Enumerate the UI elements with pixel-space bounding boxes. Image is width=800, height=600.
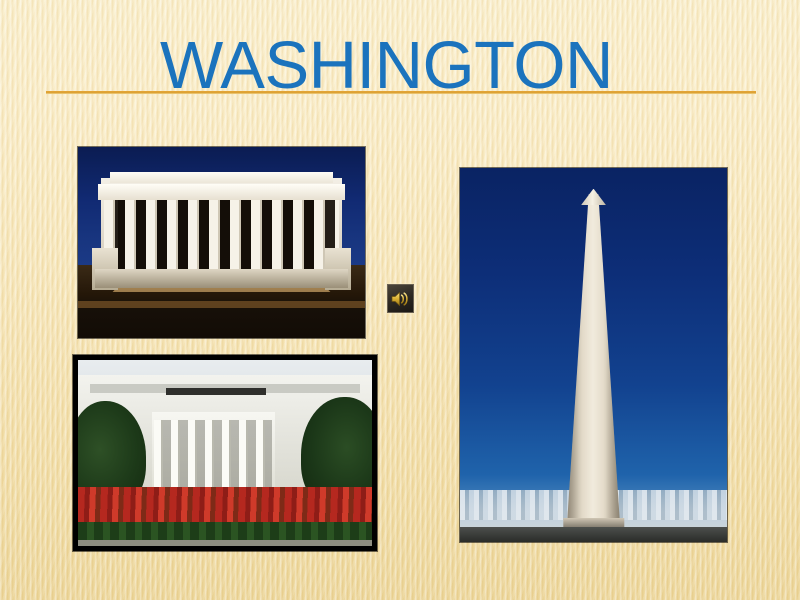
memorial-attic xyxy=(110,172,334,183)
slide-canvas: WASHINGTON xyxy=(0,0,800,600)
foreground-lawn xyxy=(460,527,727,542)
portico-columns xyxy=(154,420,272,494)
speaker-icon[interactable] xyxy=(387,284,414,313)
front-path xyxy=(78,540,372,546)
washington-monument-photo[interactable] xyxy=(460,168,727,542)
lincoln-memorial-photo[interactable] xyxy=(78,147,365,338)
title-block: WASHINGTON xyxy=(0,26,800,112)
white-house-image-body xyxy=(78,360,372,546)
hedge-row xyxy=(78,522,372,542)
memorial-base xyxy=(95,269,348,288)
lincoln-memorial-image-body xyxy=(78,147,365,338)
white-house-roof-deck xyxy=(166,388,266,395)
washington-monument-image-body xyxy=(460,168,727,542)
page-title: WASHINGTON xyxy=(160,26,613,106)
white-house-photo[interactable] xyxy=(73,355,377,551)
memorial-colonnade xyxy=(104,197,339,275)
foreground-road xyxy=(78,301,365,309)
memorial-entablature xyxy=(98,184,345,199)
